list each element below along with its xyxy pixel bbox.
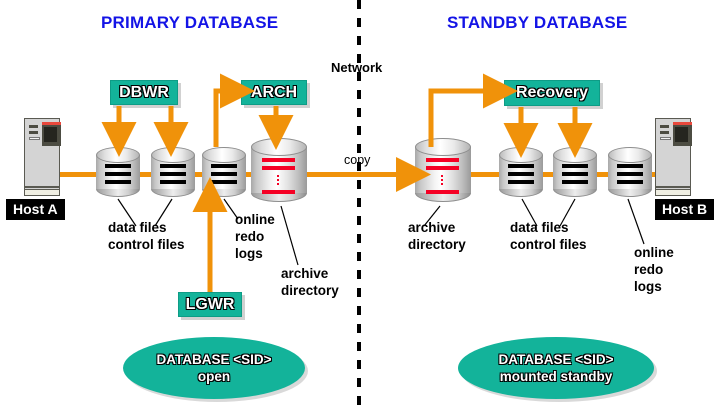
host-a-slot-2 <box>29 131 38 134</box>
cylinder-stripe <box>617 172 643 176</box>
cylinder-stripes <box>151 164 195 190</box>
standby-archive-line2: directory <box>408 236 466 253</box>
primary-status-line2: open <box>198 368 230 385</box>
primary-redo-line2: redo <box>235 228 275 245</box>
host-a-divider <box>25 186 59 188</box>
host-a-front-panel <box>29 122 57 146</box>
cylinder-stripe <box>105 172 131 176</box>
host-b-front-panel <box>660 122 688 146</box>
cylinder-stripe <box>562 180 588 184</box>
arrow-redologs-to-arch <box>216 91 236 147</box>
archive-ellipsis-icon <box>441 175 443 187</box>
cylinder-stripes <box>499 164 543 190</box>
standby-datafiles-line2: control files <box>510 236 587 253</box>
database-cylinder-icon <box>96 147 140 197</box>
archive-directory-cylinder-icon <box>251 138 307 204</box>
primary-archive-label: archive directory <box>281 265 339 299</box>
arch-label: ARCH <box>251 84 297 102</box>
primary-datafiles-line2: control files <box>108 236 185 253</box>
host-b-base <box>656 189 690 195</box>
cylinder-stripe <box>508 164 534 168</box>
dbwr-process-box[interactable]: DBWR <box>110 80 178 105</box>
cylinder-stripe <box>160 180 186 184</box>
host-b-panel-inset <box>675 127 688 142</box>
cylinder-stripe <box>508 172 534 176</box>
host-a-dark-panel <box>42 125 61 146</box>
standby-database-status-ellipse: DATABASE <SID> mounted standby <box>458 337 654 399</box>
cylinder-stripe <box>562 172 588 176</box>
network-label: Network <box>331 60 382 75</box>
archive-ellipsis-icon <box>277 175 279 187</box>
archive-directory-cylinder-icon <box>415 138 471 204</box>
standby-database-heading: STANDBY DATABASE <box>447 13 627 33</box>
cylinder-stripe <box>160 164 186 168</box>
database-cylinder-icon <box>202 147 246 197</box>
cylinder-stripe <box>211 164 237 168</box>
primary-bus-to-network <box>305 172 365 177</box>
standby-redologs-label: online redo logs <box>634 244 674 295</box>
host-a-slot-1 <box>29 125 38 128</box>
standby-redo-line3: logs <box>634 278 674 295</box>
standby-status-line2: mounted standby <box>500 368 613 385</box>
cylinder-stripes <box>251 158 307 200</box>
cylinder-stripes <box>96 164 140 190</box>
archive-stripe <box>262 158 295 162</box>
primary-database-heading: PRIMARY DATABASE <box>101 13 278 33</box>
host-a-base <box>25 189 59 195</box>
host-b-slot-2 <box>660 131 669 134</box>
arch-process-box[interactable]: ARCH <box>241 80 307 105</box>
cylinder-top <box>553 147 597 163</box>
host-a-tower-icon <box>24 118 60 196</box>
primary-redo-line1: online <box>235 211 275 228</box>
cylinder-stripe <box>105 180 131 184</box>
cylinder-top <box>151 147 195 163</box>
standby-redo-line2: redo <box>634 261 674 278</box>
cylinder-stripes <box>608 164 652 190</box>
archive-stripe <box>426 166 459 170</box>
cylinder-stripes <box>415 158 471 200</box>
standby-status-line1: DATABASE <SID> <box>498 351 613 368</box>
host-a-slot-3 <box>29 137 40 140</box>
archive-stripe <box>262 190 295 194</box>
primary-archive-line1: archive <box>281 265 339 282</box>
cylinder-top <box>96 147 140 163</box>
host-a-panel-inset <box>44 127 57 142</box>
lgwr-process-box[interactable]: LGWR <box>178 292 242 317</box>
archive-stripe <box>262 166 295 170</box>
host-b-dark-panel <box>673 125 692 146</box>
database-cylinder-icon <box>553 147 597 197</box>
copy-label: copy <box>344 153 370 167</box>
primary-datafiles-label: data files control files <box>108 219 185 253</box>
lgwr-label: LGWR <box>186 296 235 314</box>
standby-datafiles-label: data files control files <box>510 219 587 253</box>
cylinder-top <box>202 147 246 163</box>
database-cylinder-icon <box>499 147 543 197</box>
cylinder-stripe <box>617 164 643 168</box>
database-cylinder-icon <box>151 147 195 197</box>
cylinder-stripe <box>211 172 237 176</box>
cylinder-top <box>415 138 471 156</box>
database-cylinder-icon <box>608 147 652 197</box>
primary-status-line1: DATABASE <SID> <box>156 351 271 368</box>
standby-redo-line1: online <box>634 244 674 261</box>
cylinder-stripe <box>617 180 643 184</box>
recovery-label: Recovery <box>516 84 588 102</box>
archive-stripe <box>426 190 459 194</box>
cylinder-stripe <box>211 180 237 184</box>
host-b-nameplate: Host B <box>655 199 714 220</box>
host-b-tower-icon <box>655 118 691 196</box>
host-a-nameplate: Host A <box>6 199 65 220</box>
host-b-slot-3 <box>660 137 671 140</box>
primary-redologs-label: online redo logs <box>235 211 275 262</box>
cylinder-top <box>608 147 652 163</box>
cylinder-top <box>499 147 543 163</box>
cylinder-stripes <box>202 164 246 190</box>
archive-stripe <box>426 158 459 162</box>
primary-redo-line3: logs <box>235 245 275 262</box>
cylinder-stripes <box>553 164 597 190</box>
cylinder-top <box>251 138 307 156</box>
dbwr-label: DBWR <box>119 84 169 102</box>
cylinder-stripe <box>160 172 186 176</box>
primary-archive-line2: directory <box>281 282 339 299</box>
cylinder-stripe <box>105 164 131 168</box>
cylinder-stripe <box>562 164 588 168</box>
standby-archive-line1: archive <box>408 219 466 236</box>
host-b-divider <box>656 186 690 188</box>
primary-datafiles-line1: data files <box>108 219 185 236</box>
host-b-slot-1 <box>660 125 669 128</box>
recovery-process-box[interactable]: Recovery <box>504 80 600 106</box>
standby-archive-label: archive directory <box>408 219 466 253</box>
primary-database-status-ellipse: DATABASE <SID> open <box>123 337 305 399</box>
cylinder-stripe <box>508 180 534 184</box>
standby-datafiles-line1: data files <box>510 219 587 236</box>
